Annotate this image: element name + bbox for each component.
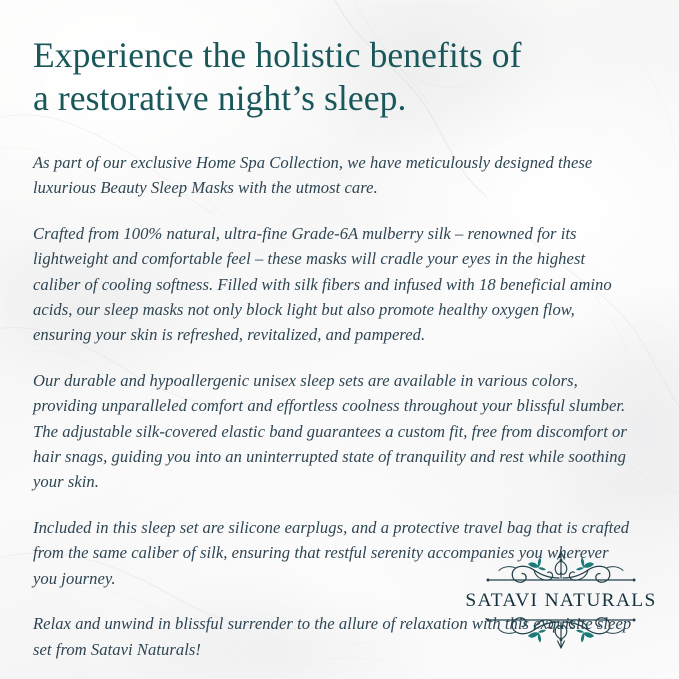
headline-line-2: a restorative night’s sleep. <box>33 78 406 118</box>
logo-wordmark: SATAVI NATURALS <box>466 590 656 611</box>
headline-line-1: Experience the holistic benefits of <box>33 35 522 75</box>
paragraph-intro: As part of our exclusive Home Spa Collec… <box>33 150 633 201</box>
logo-bottom-ornament <box>487 618 636 648</box>
paragraph-material: Crafted from 100% natural, ultra-fine Gr… <box>33 221 633 348</box>
paragraph-comfort: Our durable and hypoallergenic unisex sl… <box>33 368 633 495</box>
product-description-canvas: Experience the holistic benefits of a re… <box>0 0 679 679</box>
page-title: Experience the holistic benefits of a re… <box>33 34 633 120</box>
brand-logo: SATAVI NATURALS <box>466 548 656 652</box>
logo-top-ornament <box>487 552 636 582</box>
